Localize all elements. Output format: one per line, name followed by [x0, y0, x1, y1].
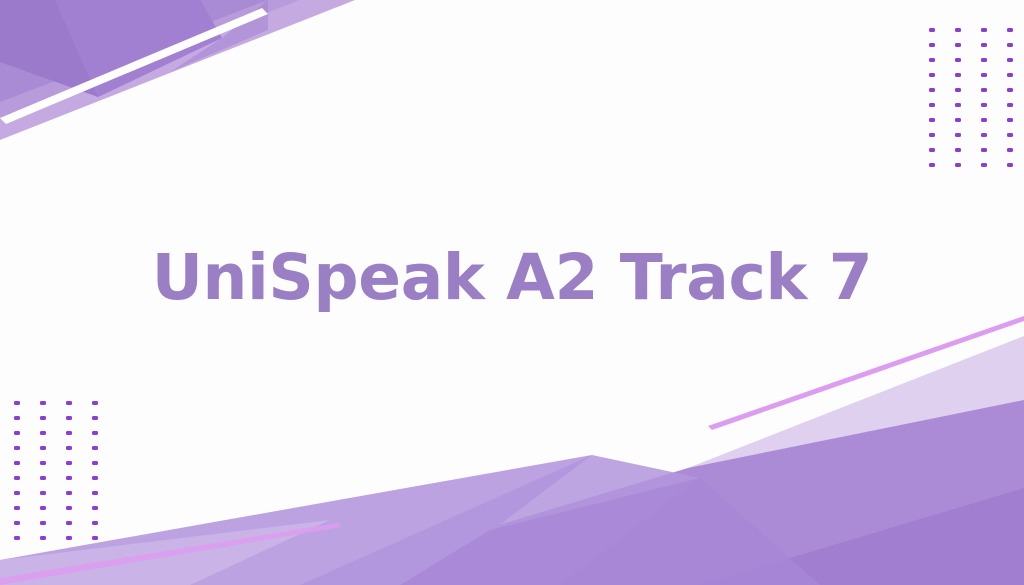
dot: [92, 506, 98, 510]
dot: [40, 506, 46, 510]
dot: [92, 521, 98, 525]
dot: [14, 416, 20, 420]
dot: [66, 476, 72, 480]
dot: [981, 28, 987, 32]
page-title: UniSpeak A2 Track 7: [0, 244, 1024, 312]
dot: [40, 536, 46, 540]
dot: [40, 431, 46, 435]
dot: [955, 88, 961, 92]
dot: [92, 491, 98, 495]
dot: [955, 43, 961, 47]
dot: [14, 476, 20, 480]
dot: [1007, 163, 1013, 167]
dot: [14, 536, 20, 540]
dot: [929, 28, 935, 32]
dot: [92, 476, 98, 480]
dot: [929, 133, 935, 137]
dot: [92, 401, 98, 405]
dot: [1007, 73, 1013, 77]
dot: [14, 401, 20, 405]
dot-grid-top-right: [929, 28, 1013, 167]
dot: [929, 88, 935, 92]
dot: [92, 536, 98, 540]
dot: [1007, 43, 1013, 47]
dot: [14, 431, 20, 435]
dot: [66, 506, 72, 510]
dot: [955, 103, 961, 107]
dot: [40, 416, 46, 420]
dot: [1007, 118, 1013, 122]
dot: [1007, 28, 1013, 32]
dot: [955, 148, 961, 152]
dot: [40, 521, 46, 525]
dot-grid-bottom-left: [14, 401, 98, 540]
dot: [929, 103, 935, 107]
dot: [955, 133, 961, 137]
dot: [40, 446, 46, 450]
dot: [66, 461, 72, 465]
dot: [1007, 58, 1013, 62]
dot: [929, 43, 935, 47]
dot: [929, 118, 935, 122]
dot: [66, 521, 72, 525]
title-slide: UniSpeak A2 Track 7: [0, 0, 1024, 585]
dot: [929, 73, 935, 77]
dot: [14, 461, 20, 465]
dot: [92, 416, 98, 420]
dot: [1007, 148, 1013, 152]
dot: [981, 43, 987, 47]
dot: [955, 118, 961, 122]
dot: [929, 148, 935, 152]
dot: [14, 521, 20, 525]
dot: [929, 58, 935, 62]
dot: [14, 506, 20, 510]
dot: [955, 73, 961, 77]
dot: [40, 401, 46, 405]
dot: [40, 491, 46, 495]
dot: [981, 163, 987, 167]
dot: [981, 103, 987, 107]
dot: [929, 163, 935, 167]
dot: [66, 491, 72, 495]
dot: [66, 446, 72, 450]
dot: [40, 476, 46, 480]
title-block: UniSpeak A2 Track 7: [0, 244, 1024, 312]
dot: [66, 536, 72, 540]
dot: [955, 28, 961, 32]
dot: [955, 58, 961, 62]
dot: [981, 73, 987, 77]
dot: [981, 133, 987, 137]
dot: [92, 446, 98, 450]
dot: [981, 148, 987, 152]
dot: [981, 118, 987, 122]
dot: [40, 461, 46, 465]
dot: [1007, 103, 1013, 107]
dot: [981, 88, 987, 92]
dot: [66, 431, 72, 435]
dot: [14, 491, 20, 495]
dot: [1007, 88, 1013, 92]
dot: [92, 461, 98, 465]
dot: [981, 58, 987, 62]
dot: [1007, 133, 1013, 137]
dot: [66, 416, 72, 420]
dot: [66, 401, 72, 405]
dot: [955, 163, 961, 167]
dot: [14, 446, 20, 450]
dot: [92, 431, 98, 435]
